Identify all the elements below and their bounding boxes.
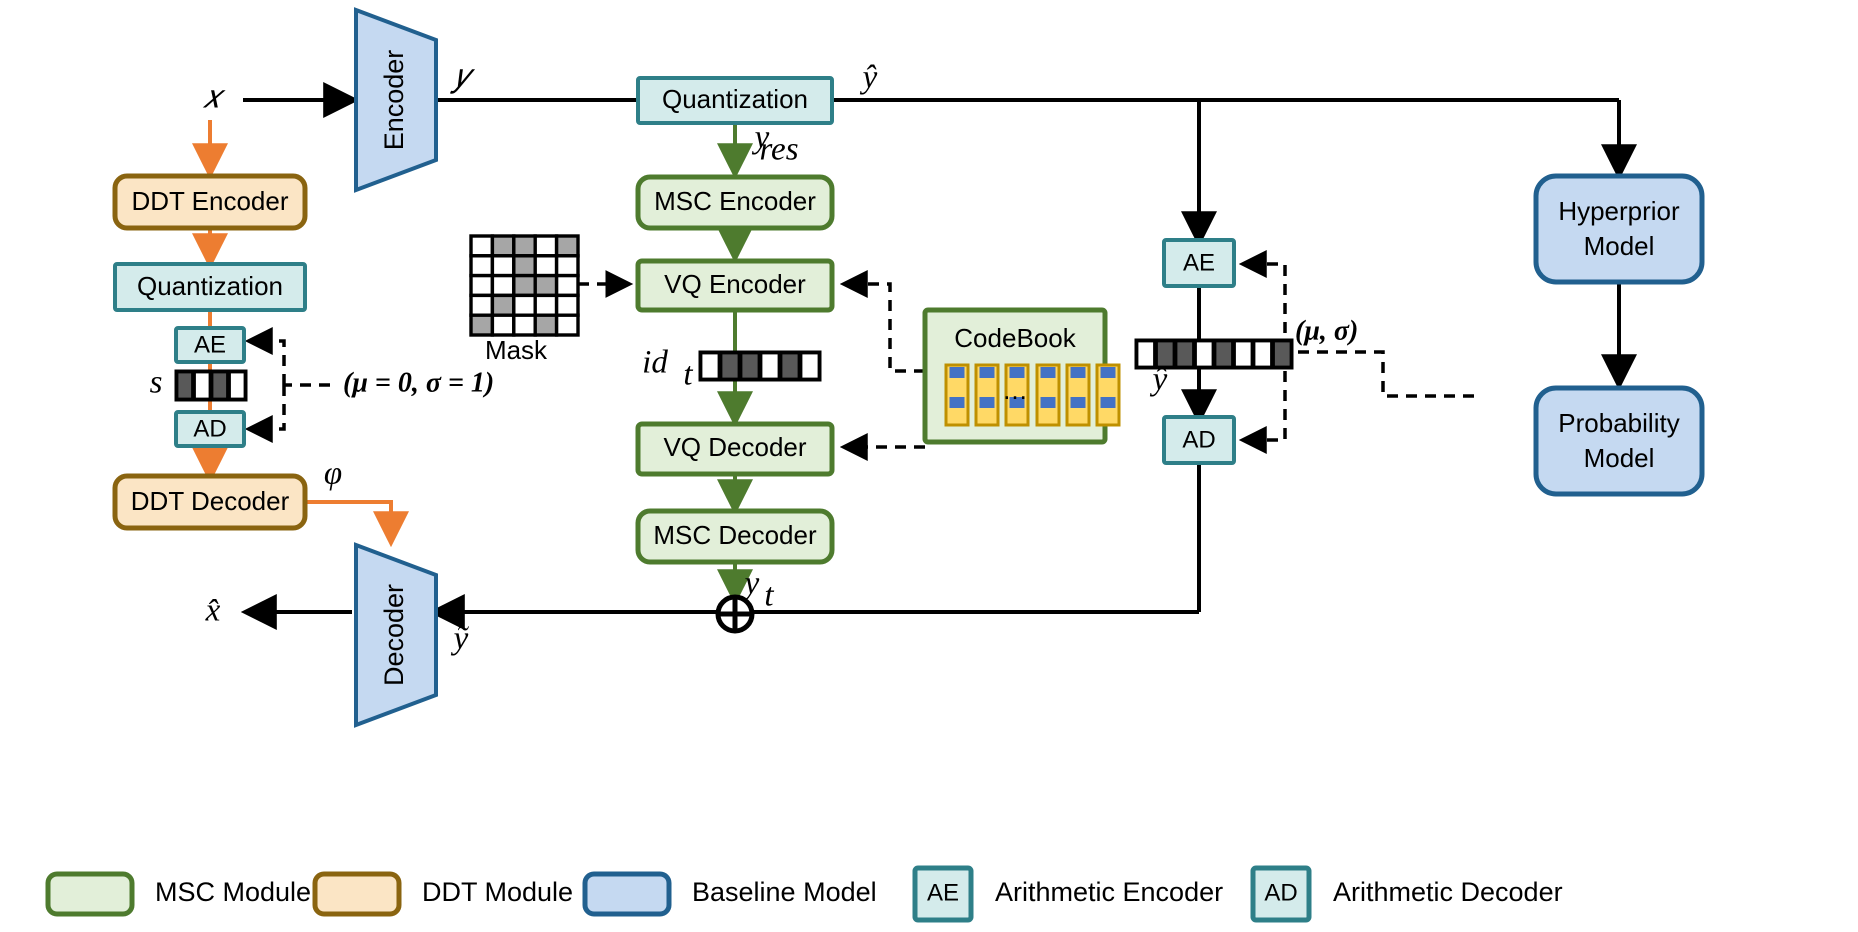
mask-cell <box>557 276 578 296</box>
mask-cell <box>535 295 556 315</box>
label-y-t-base: y <box>742 566 760 602</box>
codebook-cell <box>1071 412 1086 423</box>
codebook-cell <box>950 367 965 378</box>
label-id-t-sub: t <box>683 357 693 393</box>
mask-cell <box>535 315 556 335</box>
legend-label: Arithmetic Encoder <box>995 877 1223 907</box>
label-y-t-sub: t <box>764 578 774 614</box>
bitstream-cell <box>213 373 226 397</box>
legend-label: MSC Module <box>155 877 311 907</box>
codebook-cell <box>1101 382 1116 393</box>
label-mu-sigma-zero: (μ = 0, σ = 1) <box>343 367 494 398</box>
edge-ddt-decoder-to-decoder <box>305 502 391 540</box>
label-x-hat: x̂ <box>205 593 221 629</box>
mask-cell <box>492 315 513 335</box>
mask-cell <box>557 236 578 256</box>
mask-cell <box>492 256 513 276</box>
edge-quantization-to-right-rail <box>832 100 1619 240</box>
diagram-canvas: Encoder Decoder DDT Encoder Quantization… <box>0 0 1858 932</box>
label-mu-sigma: (μ, σ) <box>1295 315 1358 346</box>
bitstream-cell <box>742 354 757 377</box>
codebook-cell <box>950 412 965 423</box>
bitstream-cell <box>782 354 797 377</box>
ae-left-label: AE <box>194 331 226 358</box>
codebook-cell <box>1101 412 1116 423</box>
vq-encoder-label: VQ Encoder <box>664 269 806 299</box>
bitstream-s-cells <box>175 370 248 402</box>
mask-cell <box>471 315 492 335</box>
quantization-top-label: Quantization <box>662 84 808 114</box>
mask-cell <box>535 256 556 276</box>
quantization-left-block[interactable]: Quantization <box>115 264 305 310</box>
codebook-cell <box>1071 382 1086 393</box>
legend-swatch-glyph: AD <box>1264 879 1297 906</box>
mask-cell <box>557 256 578 276</box>
vq-encoder-block[interactable]: VQ Encoder <box>638 261 832 310</box>
codebook-cell <box>980 382 995 393</box>
label-y-hat-top: ŷ <box>860 60 878 96</box>
bitstream-cell <box>1236 342 1251 365</box>
mask-cell <box>514 315 535 335</box>
ddt-decoder-label: DDT Decoder <box>131 486 290 516</box>
ae-left-block[interactable]: AE <box>176 328 244 362</box>
mask-cell <box>514 256 535 276</box>
mask-cell <box>514 276 535 296</box>
label-y-tilde: ỹ <box>451 621 470 657</box>
legend-swatch-glyph: AE <box>927 879 959 906</box>
sum-node <box>718 597 752 631</box>
bitstream-cell <box>722 354 737 377</box>
legend-label: Arithmetic Decoder <box>1333 877 1563 907</box>
decoder-block[interactable]: Decoder <box>356 545 436 725</box>
mask-cell <box>557 315 578 335</box>
codebook-cell <box>1101 397 1116 408</box>
codebook-cell <box>1041 382 1056 393</box>
codebook-ellipsis: … <box>1002 375 1028 405</box>
hyperprior-model-label-line1: Hyperprior <box>1558 196 1680 226</box>
bitstream-cell <box>1275 342 1290 365</box>
legend-swatch <box>585 874 669 914</box>
mask-caption: Mask <box>485 335 548 365</box>
legend-swatch <box>315 874 399 914</box>
label-y-hat-right: ŷ <box>1150 362 1168 398</box>
edge-left-prior-dashed <box>250 341 330 429</box>
bitstream-cell <box>1197 342 1212 365</box>
mask-cell <box>471 276 492 296</box>
codebook-cell <box>1041 397 1056 408</box>
bitstream-cell <box>178 373 191 397</box>
probability-model-label-line2: Model <box>1584 443 1655 473</box>
mask-cell <box>514 295 535 315</box>
mask-cell <box>471 256 492 276</box>
ae-right-block[interactable]: AE <box>1164 240 1234 286</box>
vq-decoder-label: VQ Decoder <box>663 432 806 462</box>
quantization-top-block[interactable]: Quantization <box>638 78 832 123</box>
legend: MSC ModuleDDT ModuleBaseline ModelAEArit… <box>48 868 1563 920</box>
mask-cell <box>557 295 578 315</box>
msc-encoder-label: MSC Encoder <box>654 186 816 216</box>
bitstream-cell <box>802 354 817 377</box>
codebook-title: CodeBook <box>954 323 1076 353</box>
bitstream-cell <box>702 354 717 377</box>
msc-encoder-block[interactable]: MSC Encoder <box>638 177 832 228</box>
ad-left-label: AD <box>193 415 226 442</box>
mask-cell <box>492 276 513 296</box>
label-x: 𝑥 <box>203 80 226 116</box>
bitstream-cell <box>762 354 777 377</box>
codebook-cell <box>980 367 995 378</box>
probability-model-label-line1: Probability <box>1558 408 1679 438</box>
mask-cell <box>492 295 513 315</box>
label-y-res: y res <box>752 120 799 168</box>
label-s: s <box>150 365 163 401</box>
codebook-cell <box>1010 412 1025 423</box>
label-id-t-base: id <box>642 345 668 381</box>
bitstream-cell <box>196 373 209 397</box>
quantization-left-label: Quantization <box>137 271 283 301</box>
encoder-block[interactable]: Encoder <box>356 10 436 190</box>
codebook-cell <box>950 382 965 393</box>
bitstream-idt-cells <box>699 351 822 382</box>
edge-codebook-to-vq-encoder <box>845 284 925 371</box>
encoder-label: Encoder <box>379 50 409 151</box>
bitstream-cell <box>1216 342 1231 365</box>
probability-model-block[interactable]: Probability Model <box>1536 388 1702 494</box>
hyperprior-model-block[interactable]: Hyperprior Model <box>1536 176 1702 282</box>
msc-decoder-label: MSC Decoder <box>653 520 817 550</box>
codebook-cell <box>980 412 995 423</box>
bitstream-cell <box>1255 342 1270 365</box>
codebook-cell <box>1071 367 1086 378</box>
label-phi: φ <box>324 456 342 492</box>
codebook-cell <box>950 397 965 408</box>
mask-cell <box>471 236 492 256</box>
ad-left-block[interactable]: AD <box>176 412 244 446</box>
label-id-t: id t <box>642 345 693 393</box>
codebook-cell <box>1041 367 1056 378</box>
vq-decoder-block[interactable]: VQ Decoder <box>638 424 832 474</box>
architecture-diagram: Encoder Decoder DDT Encoder Quantization… <box>0 0 1858 932</box>
msc-decoder-block[interactable]: MSC Decoder <box>638 511 832 562</box>
ddt-decoder-block[interactable]: DDT Decoder <box>115 476 305 528</box>
mask-cell <box>514 236 535 256</box>
codebook-cell <box>1101 367 1116 378</box>
hyperprior-model-label-line2: Model <box>1584 231 1655 261</box>
bitstream-cell <box>1138 342 1153 365</box>
mask-cell <box>535 276 556 296</box>
legend-label: Baseline Model <box>692 877 877 907</box>
mask-cell <box>535 236 556 256</box>
ad-right-block[interactable]: AD <box>1164 417 1234 463</box>
legend-label: DDT Module <box>422 877 573 907</box>
codebook-cell <box>1071 397 1086 408</box>
bitstream-cell <box>231 373 244 397</box>
ad-right-label: AD <box>1182 426 1215 453</box>
ae-right-label: AE <box>1183 249 1215 276</box>
label-y: 𝑦 <box>449 59 475 95</box>
decoder-label: Decoder <box>379 584 409 686</box>
codebook-cell <box>1041 412 1056 423</box>
label-y-res-sub: res <box>759 132 798 168</box>
ddt-encoder-label: DDT Encoder <box>131 186 288 216</box>
mask-grid <box>471 236 578 335</box>
mask-cell <box>471 295 492 315</box>
bitstream-cell <box>1177 342 1192 365</box>
mask-cell <box>492 236 513 256</box>
ddt-encoder-block[interactable]: DDT Encoder <box>115 176 305 228</box>
codebook-cell <box>980 397 995 408</box>
legend-swatch <box>48 874 132 914</box>
